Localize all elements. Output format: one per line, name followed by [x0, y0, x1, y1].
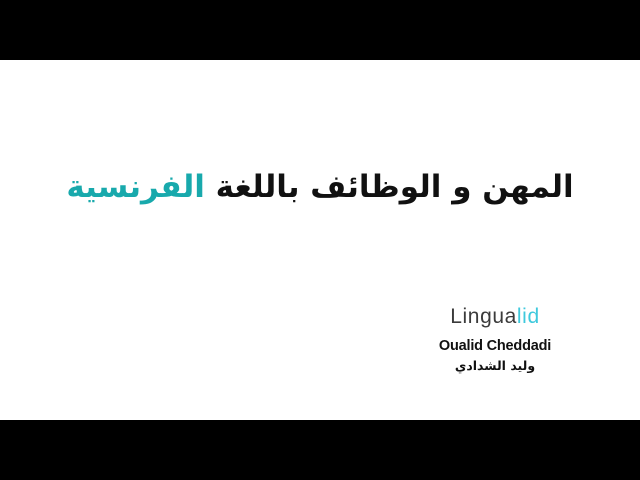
video-frame: المهن و الوظائف باللغة الفرنسية Linguali… — [0, 0, 640, 480]
lingualid-logo: Lingualid — [380, 306, 610, 327]
page-title-accent-segment: الفرنسية — [66, 169, 205, 205]
branding-block: Lingualid Oualid Cheddadi وليد الشدادي — [380, 306, 610, 373]
logo-accent-segment: lid — [517, 305, 540, 328]
author-name-latin: Oualid Cheddadi — [380, 339, 610, 355]
slide-canvas: المهن و الوظائف باللغة الفرنسية Linguali… — [0, 60, 640, 420]
page-title-plain-segment: المهن و الوظائف باللغة — [216, 169, 574, 205]
letterbox-bar-bottom — [0, 420, 640, 480]
author-name-arabic: وليد الشدادي — [380, 358, 610, 373]
letterbox-bar-top — [0, 0, 640, 60]
logo-plain-segment: Lingua — [450, 305, 517, 328]
page-title: المهن و الوظائف باللغة الفرنسية — [0, 168, 640, 207]
